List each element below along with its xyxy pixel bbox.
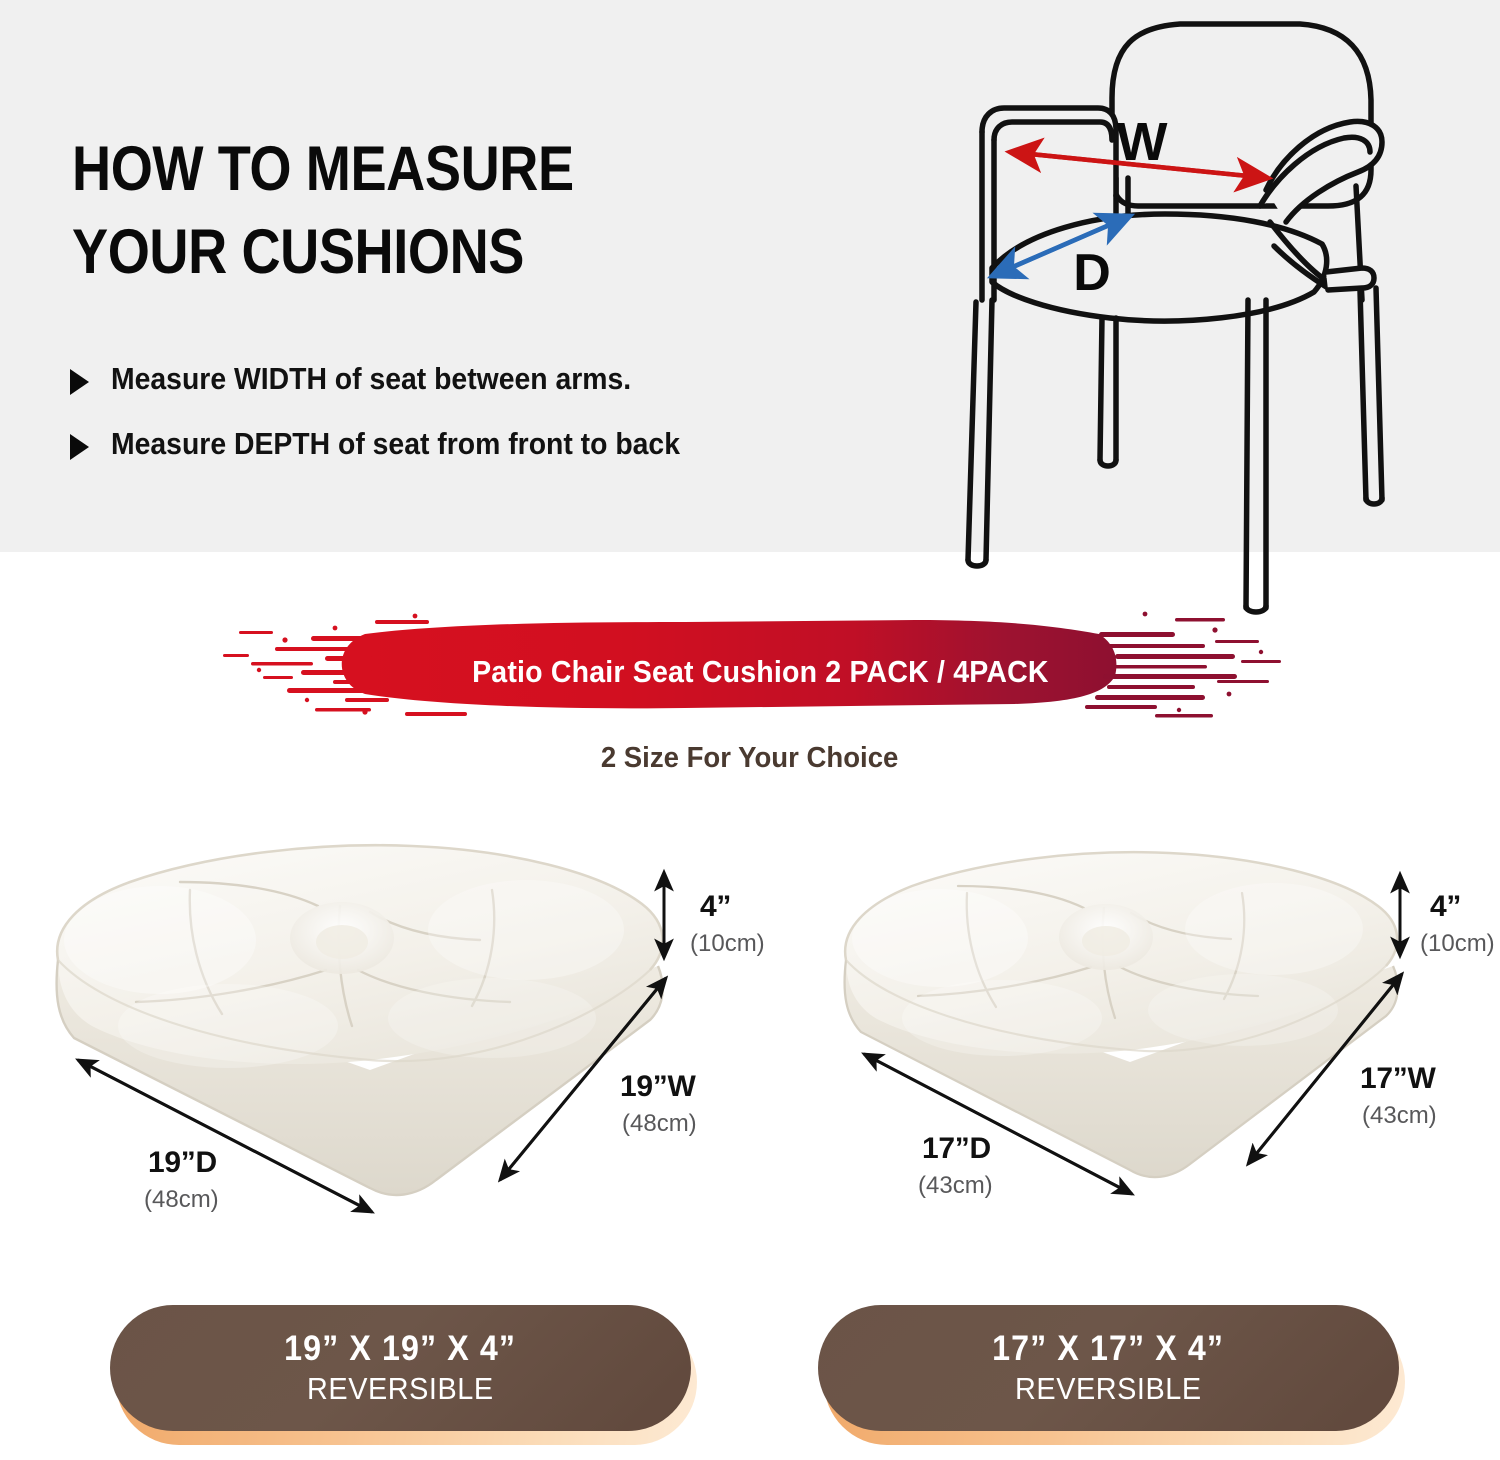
banner-subtitle: 2 Size For Your Choice bbox=[601, 742, 899, 775]
size-badge-small[interactable]: 17” X 17” X 4” REVERSIBLE bbox=[818, 1305, 1405, 1445]
brush-body bbox=[342, 620, 1117, 708]
cushion-height-metric: (10cm) bbox=[1420, 930, 1495, 958]
chair-side-brace bbox=[1326, 268, 1374, 290]
cushion-height-metric: (10cm) bbox=[690, 930, 765, 958]
cushion-height-value: 4” bbox=[700, 890, 731, 924]
cushion-width-metric: (43cm) bbox=[1362, 1102, 1437, 1130]
chair-leg-mid bbox=[1100, 318, 1102, 460]
instruction-width-label: Measure WIDTH of seat between arms. bbox=[111, 360, 631, 398]
cushion-depth-metric: (48cm) bbox=[144, 1186, 219, 1214]
cushion-depth-value: 19”D bbox=[148, 1146, 217, 1180]
chair-leg-back-right bbox=[1360, 290, 1366, 500]
instruction-depth-label: Measure DEPTH of seat from front to back bbox=[111, 425, 680, 463]
list-item: Measure DEPTH of seat from front to back bbox=[70, 425, 930, 463]
banner-subtitle-wrap: 2 Size For Your Choice bbox=[0, 742, 1500, 775]
chair-leg-front-left bbox=[968, 302, 976, 560]
cushion-width-value: 19”W bbox=[620, 1070, 696, 1104]
infographic-canvas: HOW TO MEASURE YOUR CUSHIONS Measure WID… bbox=[0, 0, 1500, 1460]
chair-measure-diagram: W D bbox=[930, 0, 1500, 620]
measure-instructions-list: Measure WIDTH of seat between arms. Meas… bbox=[70, 360, 930, 490]
badge-dimensions-label: 17” X 17” X 4” bbox=[992, 1330, 1224, 1369]
triangle-bullet-icon bbox=[70, 434, 89, 460]
cushion-width-value: 17”W bbox=[1360, 1062, 1436, 1096]
badge-body[interactable]: 19” X 19” X 4” REVERSIBLE bbox=[110, 1305, 691, 1431]
cushion-depth-metric: (43cm) bbox=[918, 1172, 993, 1200]
banner-brush-stroke: Patio Chair Seat Cushion 2 PACK / 4PACK bbox=[215, 600, 1305, 740]
page-title: HOW TO MEASURE YOUR CUSHIONS bbox=[72, 128, 760, 294]
cushion-width-metric: (48cm) bbox=[622, 1110, 697, 1138]
triangle-bullet-icon bbox=[70, 369, 89, 395]
cushion-illustration-large: 4” (10cm) 19”W (48cm) 19”D (48cm) bbox=[40, 820, 740, 1250]
width-letter-label: W bbox=[1117, 112, 1168, 172]
depth-letter-label: D bbox=[1073, 244, 1111, 302]
cushion-depth-value: 17”D bbox=[922, 1132, 991, 1166]
size-badge-large[interactable]: 19” X 19” X 4” REVERSIBLE bbox=[110, 1305, 697, 1445]
cushion-height-value: 4” bbox=[1430, 890, 1461, 924]
badge-reversible-label: REVERSIBLE bbox=[1015, 1372, 1202, 1406]
chair-leg-front-right bbox=[1246, 300, 1248, 608]
badge-dimensions-label: 19” X 19” X 4” bbox=[284, 1330, 516, 1369]
list-item: Measure WIDTH of seat between arms. bbox=[70, 360, 930, 398]
cushion-illustration-small: 4” (10cm) 17”W (43cm) 17”D (43cm) bbox=[830, 828, 1470, 1238]
badge-reversible-label: REVERSIBLE bbox=[307, 1372, 494, 1406]
badge-body[interactable]: 17” X 17” X 4” REVERSIBLE bbox=[818, 1305, 1399, 1431]
